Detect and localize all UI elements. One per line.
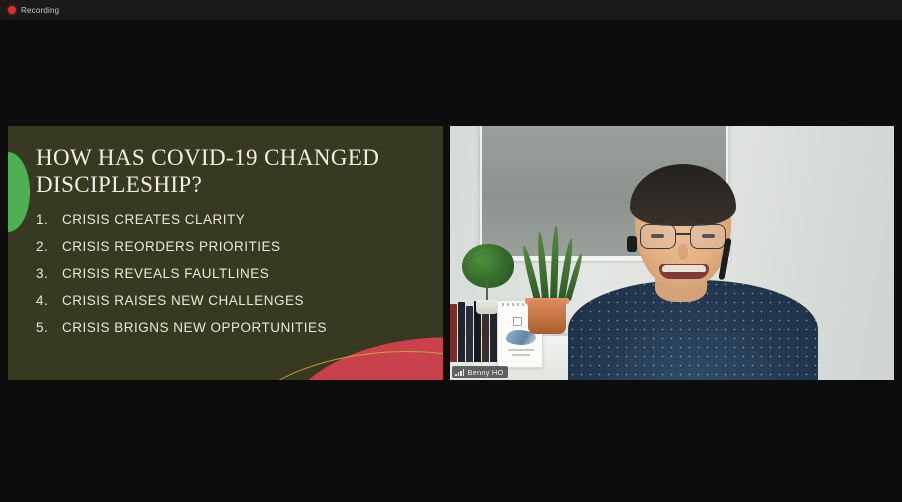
- slide-title: HOW HAS COVID-19 CHANGED DISCIPLESHIP?: [36, 144, 416, 198]
- list-item: 4. CRISIS RAISES NEW CHALLENGES: [36, 293, 416, 308]
- recording-label: Recording: [21, 6, 59, 15]
- topiary-stem: [486, 280, 488, 302]
- participant-video-tile[interactable]: Benny HO: [450, 126, 894, 380]
- meeting-stage: HOW HAS COVID-19 CHANGED DISCIPLESHIP? 1…: [0, 20, 902, 502]
- topiary-pot: [476, 300, 498, 314]
- list-item-number: 3.: [36, 266, 62, 281]
- participant-name: Benny HO: [467, 368, 503, 377]
- recording-status-bar: Recording: [0, 0, 902, 20]
- list-item: 3. CRISIS REVEALS FAULTLINES: [36, 266, 416, 281]
- participant-name-tag: Benny HO: [452, 366, 508, 378]
- video-feed: [450, 126, 894, 380]
- list-item-number: 4.: [36, 293, 62, 308]
- list-item: 5. CRISIS BRIGNS NEW OPPORTUNITIES: [36, 320, 416, 335]
- list-item-number: 2.: [36, 239, 62, 254]
- list-item-text: CRISIS REORDERS PRIORITIES: [62, 239, 281, 254]
- list-item: 2. CRISIS REORDERS PRIORITIES: [36, 239, 416, 254]
- shared-slide-panel[interactable]: HOW HAS COVID-19 CHANGED DISCIPLESHIP? 1…: [8, 126, 443, 380]
- list-item-number: 5.: [36, 320, 62, 335]
- topiary-plant: [462, 244, 514, 288]
- signal-bars-icon: [455, 369, 464, 376]
- recording-indicator-icon: [8, 6, 16, 14]
- list-item-text: CRISIS REVEALS FAULTLINES: [62, 266, 269, 281]
- slide-bullet-list: 1. CRISIS CREATES CLARITY 2. CRISIS REOR…: [36, 212, 416, 347]
- list-item-text: CRISIS CREATES CLARITY: [62, 212, 245, 227]
- list-item-text: CRISIS RAISES NEW CHALLENGES: [62, 293, 304, 308]
- plant-pot: [528, 300, 566, 334]
- list-item: 1. CRISIS CREATES CLARITY: [36, 212, 416, 227]
- headset-earpiece: [627, 236, 637, 252]
- list-item-number: 1.: [36, 212, 62, 227]
- slide-content: HOW HAS COVID-19 CHANGED DISCIPLESHIP? 1…: [8, 126, 443, 380]
- list-item-text: CRISIS BRIGNS NEW OPPORTUNITIES: [62, 320, 327, 335]
- mouth: [659, 264, 709, 279]
- nose: [678, 244, 688, 260]
